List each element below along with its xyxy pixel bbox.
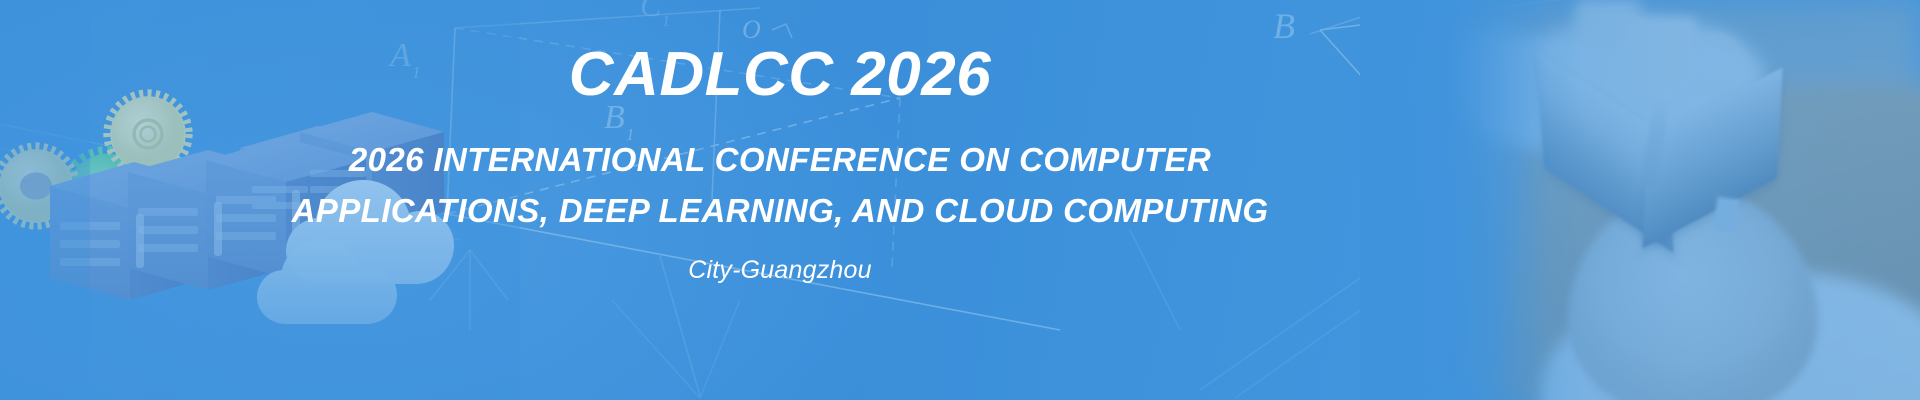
svg-text:B: B — [604, 99, 625, 136]
svg-text:O: O — [742, 15, 761, 44]
server-racks-gears-cloud-illustration — [0, 0, 520, 400]
svg-text:B: B — [1273, 6, 1295, 46]
svg-text:C: C — [640, 0, 662, 23]
svg-text:1: 1 — [662, 13, 670, 30]
person-resting-with-book-photo — [1360, 0, 1920, 400]
conference-banner: A 1 C 1 O B 1 B D C — [0, 0, 1920, 400]
svg-text:1: 1 — [626, 125, 635, 144]
